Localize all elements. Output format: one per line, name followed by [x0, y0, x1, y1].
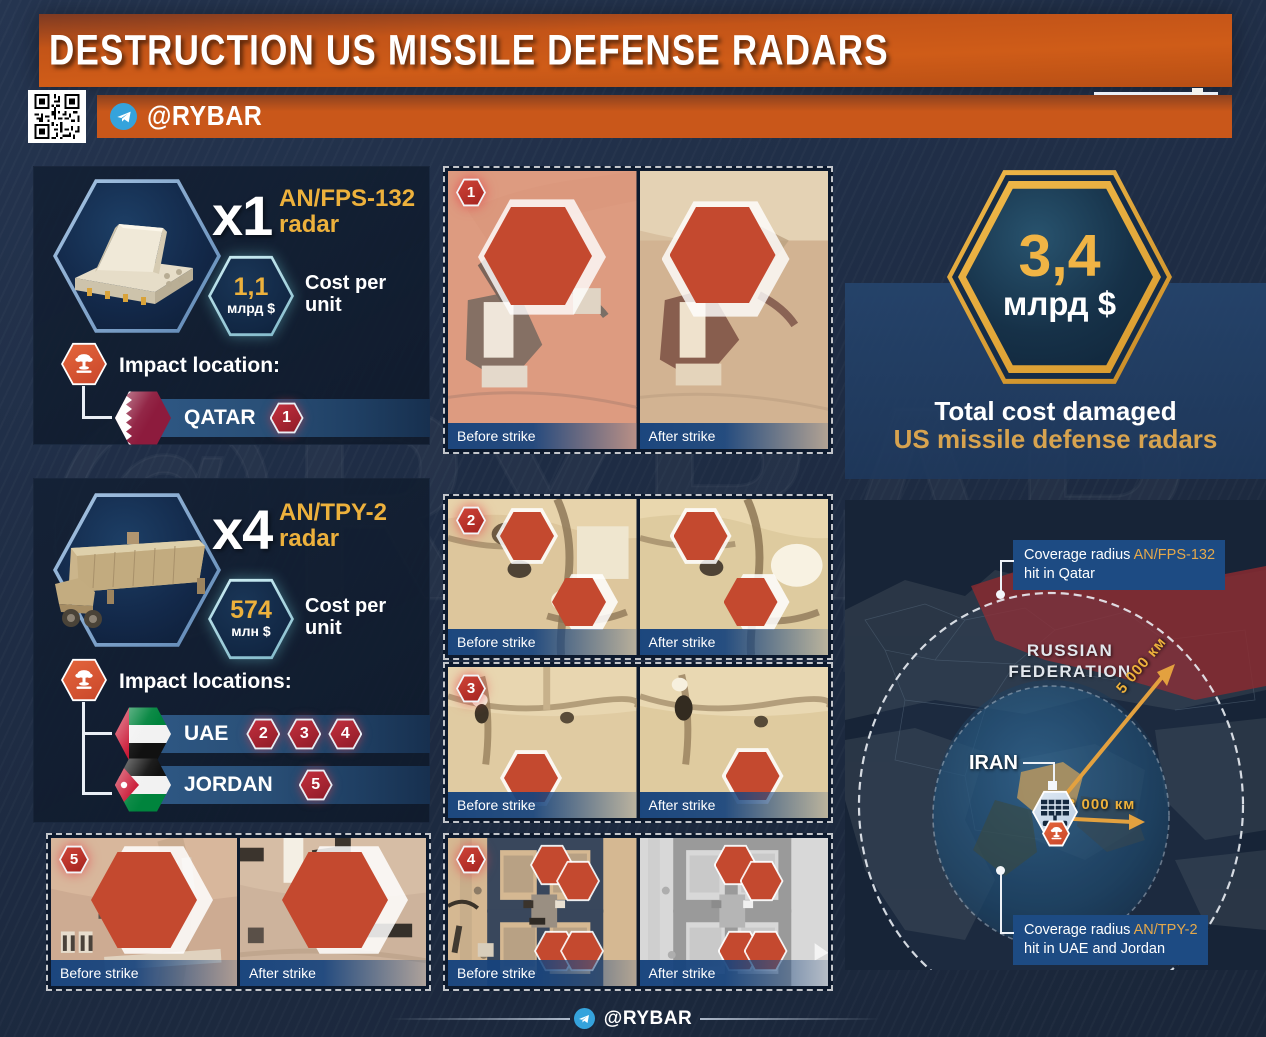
- marker-2[interactable]: 2: [246, 718, 280, 750]
- system-name-2-line2: radar: [279, 526, 387, 552]
- sat-5-after: After strike: [240, 838, 426, 986]
- system-name-2-line1: AN/TPY-2: [279, 500, 387, 526]
- caption-before-1: Before strike: [448, 423, 637, 449]
- total-caption-2: US missile defense radars: [845, 424, 1266, 455]
- cost-unit-1: млрд $: [227, 300, 275, 316]
- channel-bar: [97, 95, 1232, 138]
- coverage-map: RUSSIAN FEDERATION IRAN 5 000 км 3 000 к…: [845, 500, 1266, 970]
- caption-before-3: Before strike: [448, 792, 637, 818]
- country-name-uae: UAE: [184, 722, 228, 746]
- cost-label-2b: unit: [305, 617, 386, 639]
- panel-badge-5[interactable]: 5: [59, 845, 89, 874]
- satellite-panel-5: 5 Before strike: [46, 833, 431, 991]
- caption-before-4: Before strike: [448, 960, 637, 986]
- caption-after-1: After strike: [640, 423, 829, 449]
- callout-top-b: AN/FPS-132: [1134, 547, 1215, 563]
- footer-rule-left: [390, 1018, 570, 1020]
- infographic-root: @RYBAR @RYBAR DESTRUCTION US MISSILE DEF…: [0, 0, 1266, 1037]
- impact-tree-2: [82, 702, 85, 795]
- country-name-qatar: QATAR: [184, 406, 256, 430]
- total-cost-hex: 3,4 млрд $: [947, 168, 1172, 386]
- channel-handle[interactable]: @RYBAR: [110, 95, 262, 138]
- sat-4-after: After strike: [640, 838, 829, 986]
- callout-bottom-a: Coverage radius: [1024, 922, 1134, 938]
- callout-bottom-line2: hit in UAE and Jordan: [1024, 940, 1198, 959]
- sat-3-after: After strike: [640, 667, 829, 818]
- footer: @RYBAR: [0, 1000, 1266, 1037]
- sat-1-before: 1 Before strike: [448, 171, 637, 449]
- sat-4-before: 4 Before strike: [448, 838, 637, 986]
- marker-3[interactable]: 3: [287, 718, 321, 750]
- location-row-jordan[interactable]: JORDAN 5: [140, 766, 430, 804]
- cost-unit-2: млн $: [231, 623, 270, 639]
- callout-bottom-dot: [996, 866, 1005, 875]
- sat-3-before: 3 Before strike: [448, 667, 637, 818]
- cost-value-1: 1,1: [234, 276, 269, 300]
- iran-leader-h: [1023, 762, 1055, 764]
- system-count-1: x1: [212, 183, 272, 248]
- panel-badge-4[interactable]: 4: [456, 845, 486, 874]
- nuclear-explosion-icon: [61, 342, 107, 386]
- callout-top-leader-v: [1000, 560, 1002, 593]
- telegram-icon: [110, 103, 137, 130]
- marker-4[interactable]: 4: [328, 718, 362, 750]
- marker-1[interactable]: 1: [270, 402, 304, 434]
- nuclear-explosion-icon: [61, 658, 107, 702]
- system-name-line1: AN/FPS-132: [279, 186, 415, 212]
- panel-badge-3[interactable]: 3: [456, 674, 486, 703]
- satellite-panel-4: 4 Before strike: [443, 833, 833, 991]
- panel-badge-1[interactable]: 1: [456, 178, 486, 207]
- cost-label-1a: Cost per: [305, 272, 386, 294]
- callout-top-dot: [996, 590, 1005, 599]
- system-count-2: x4: [212, 497, 272, 562]
- system-name-line2: radar: [279, 212, 415, 238]
- location-row-qatar[interactable]: QATAR 1: [140, 399, 430, 437]
- total-cost-value: 3,4: [1018, 231, 1100, 283]
- sat-2-after: After strike: [640, 499, 829, 655]
- callout-bottom-leader-v: [1000, 872, 1002, 934]
- country-name-jordan: JORDAN: [184, 773, 273, 797]
- cost-per-unit-hex-2: 574 млн $: [208, 578, 294, 660]
- cost-label-2a: Cost per: [305, 595, 386, 617]
- radar-image-fps132: [53, 176, 221, 336]
- total-caption-1: Total cost damaged: [845, 396, 1266, 427]
- footer-channel-name: @RYBAR: [604, 1008, 692, 1030]
- impact-title-2: Impact locations:: [119, 670, 292, 694]
- total-cost-unit: млрд $: [1003, 285, 1116, 323]
- qr-code-icon[interactable]: [28, 90, 86, 143]
- callout-top-line2: hit in Qatar: [1024, 565, 1215, 584]
- sat-2-before: 2 Before strike: [448, 499, 637, 655]
- caption-after-2: After strike: [640, 629, 829, 655]
- russia-label-line1: RUSSIAN: [995, 640, 1145, 661]
- marker-5[interactable]: 5: [299, 769, 333, 801]
- telegram-icon: [574, 1008, 595, 1029]
- cost-per-unit-hex-1: 1,1 млрд $: [208, 255, 294, 337]
- cost-value-2: 574: [230, 599, 272, 623]
- callout-bottom-leader-h: [1000, 932, 1014, 934]
- location-row-uae[interactable]: UAE 2 3 4: [140, 715, 430, 753]
- iran-label: IRAN: [969, 752, 1018, 775]
- callout-coverage-fps132: Coverage radius AN/FPS-132 hit in Qatar: [1013, 540, 1225, 590]
- channel-name: @RYBAR: [147, 100, 262, 132]
- radar-image-tpy2: [53, 490, 221, 650]
- callout-bottom-b: AN/TPY-2: [1134, 922, 1198, 938]
- panel-badge-2[interactable]: 2: [456, 506, 486, 535]
- cost-label-1b: unit: [305, 294, 386, 316]
- caption-after-3: After strike: [640, 792, 829, 818]
- satellite-panel-1: 1 Before strike: [443, 166, 833, 454]
- iran-leader-dot: [1048, 781, 1057, 790]
- sat-1-after: After strike: [640, 171, 829, 449]
- page-title: DESTRUCTION US MISSILE DEFENSE RADARS: [49, 6, 889, 95]
- callout-top-a: Coverage radius: [1024, 547, 1134, 563]
- impact-tree-1: [82, 386, 85, 419]
- caption-after-5: After strike: [240, 960, 426, 986]
- impact-title-1: Impact location:: [119, 354, 280, 378]
- sat-5-before: 5 Before strike: [51, 838, 237, 986]
- nuclear-explosion-icon: [1042, 820, 1070, 847]
- caption-before-2: Before strike: [448, 629, 637, 655]
- caption-before-5: Before strike: [51, 960, 237, 986]
- callout-top-leader-h: [1000, 560, 1014, 562]
- caption-after-4: After strike: [640, 960, 829, 986]
- satellite-panel-2: 2 Before strike: [443, 494, 833, 660]
- satellite-panel-3: 3 Before strike After strike: [443, 662, 833, 823]
- callout-coverage-tpy2: Coverage radius AN/TPY-2 hit in UAE and …: [1013, 915, 1208, 965]
- footer-rule-right: [700, 1018, 880, 1020]
